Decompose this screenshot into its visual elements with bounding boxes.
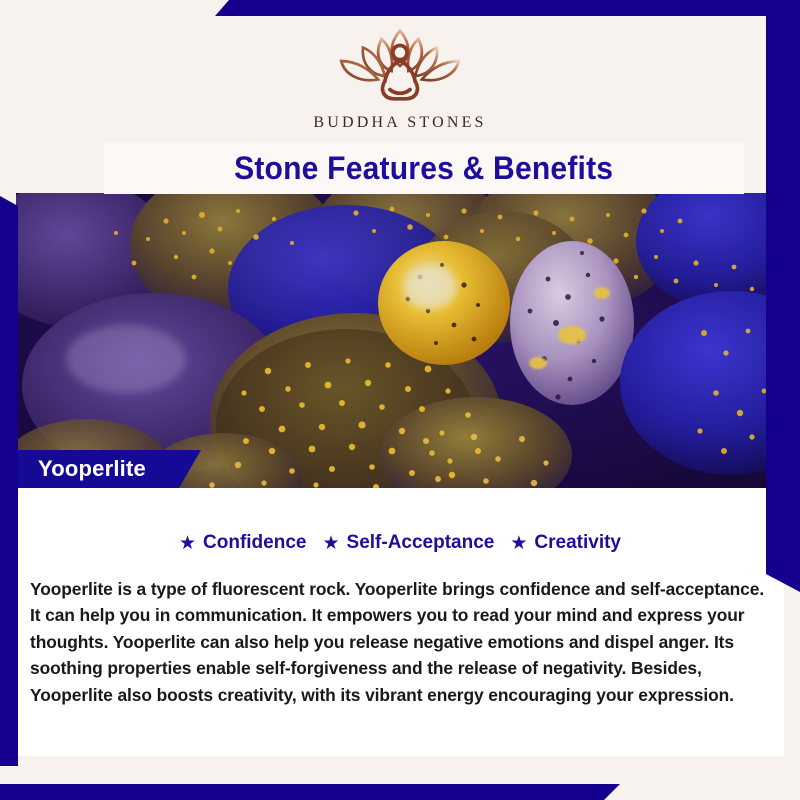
star-icon: ★ xyxy=(322,534,339,553)
stone-name-tag: Yooperlite xyxy=(16,450,201,488)
lotus-meditation-icon xyxy=(316,19,484,111)
frame-left-bar xyxy=(0,196,18,766)
page-title: Stone Features & Benefits xyxy=(234,150,613,187)
keyword-item-self-acceptance: ★ Self-Acceptance xyxy=(322,532,494,554)
brand-header: BUDDHA STONES xyxy=(0,0,800,145)
keyword-label: Self-Acceptance xyxy=(347,532,495,554)
brand-name: BUDDHA STONES xyxy=(313,114,486,132)
keyword-label: Creativity xyxy=(534,532,621,554)
stone-description: Yooperlite is a type of fluorescent rock… xyxy=(30,576,770,708)
frame-bottom-bar xyxy=(0,784,620,800)
title-band: Stone Features & Benefits xyxy=(104,142,744,194)
frame-top-bar xyxy=(215,0,800,16)
promo-card: BUDDHA STONES Stone Features & Benefits xyxy=(0,0,800,800)
keyword-item-confidence: ★ Confidence xyxy=(179,532,307,554)
keyword-label: Confidence xyxy=(203,532,306,554)
stone-name: Yooperlite xyxy=(16,456,146,482)
benefits-panel: ★ Confidence ★ Self-Acceptance ★ Creativ… xyxy=(16,488,784,756)
keyword-list: ★ Confidence ★ Self-Acceptance ★ Creativ… xyxy=(16,488,784,554)
keyword-item-creativity: ★ Creativity xyxy=(510,532,621,554)
star-icon: ★ xyxy=(179,534,196,553)
frame-right-bar xyxy=(766,0,800,592)
star-icon: ★ xyxy=(510,534,527,553)
brand-logo: BUDDHA STONES xyxy=(313,19,486,132)
stone-photo xyxy=(16,193,784,488)
